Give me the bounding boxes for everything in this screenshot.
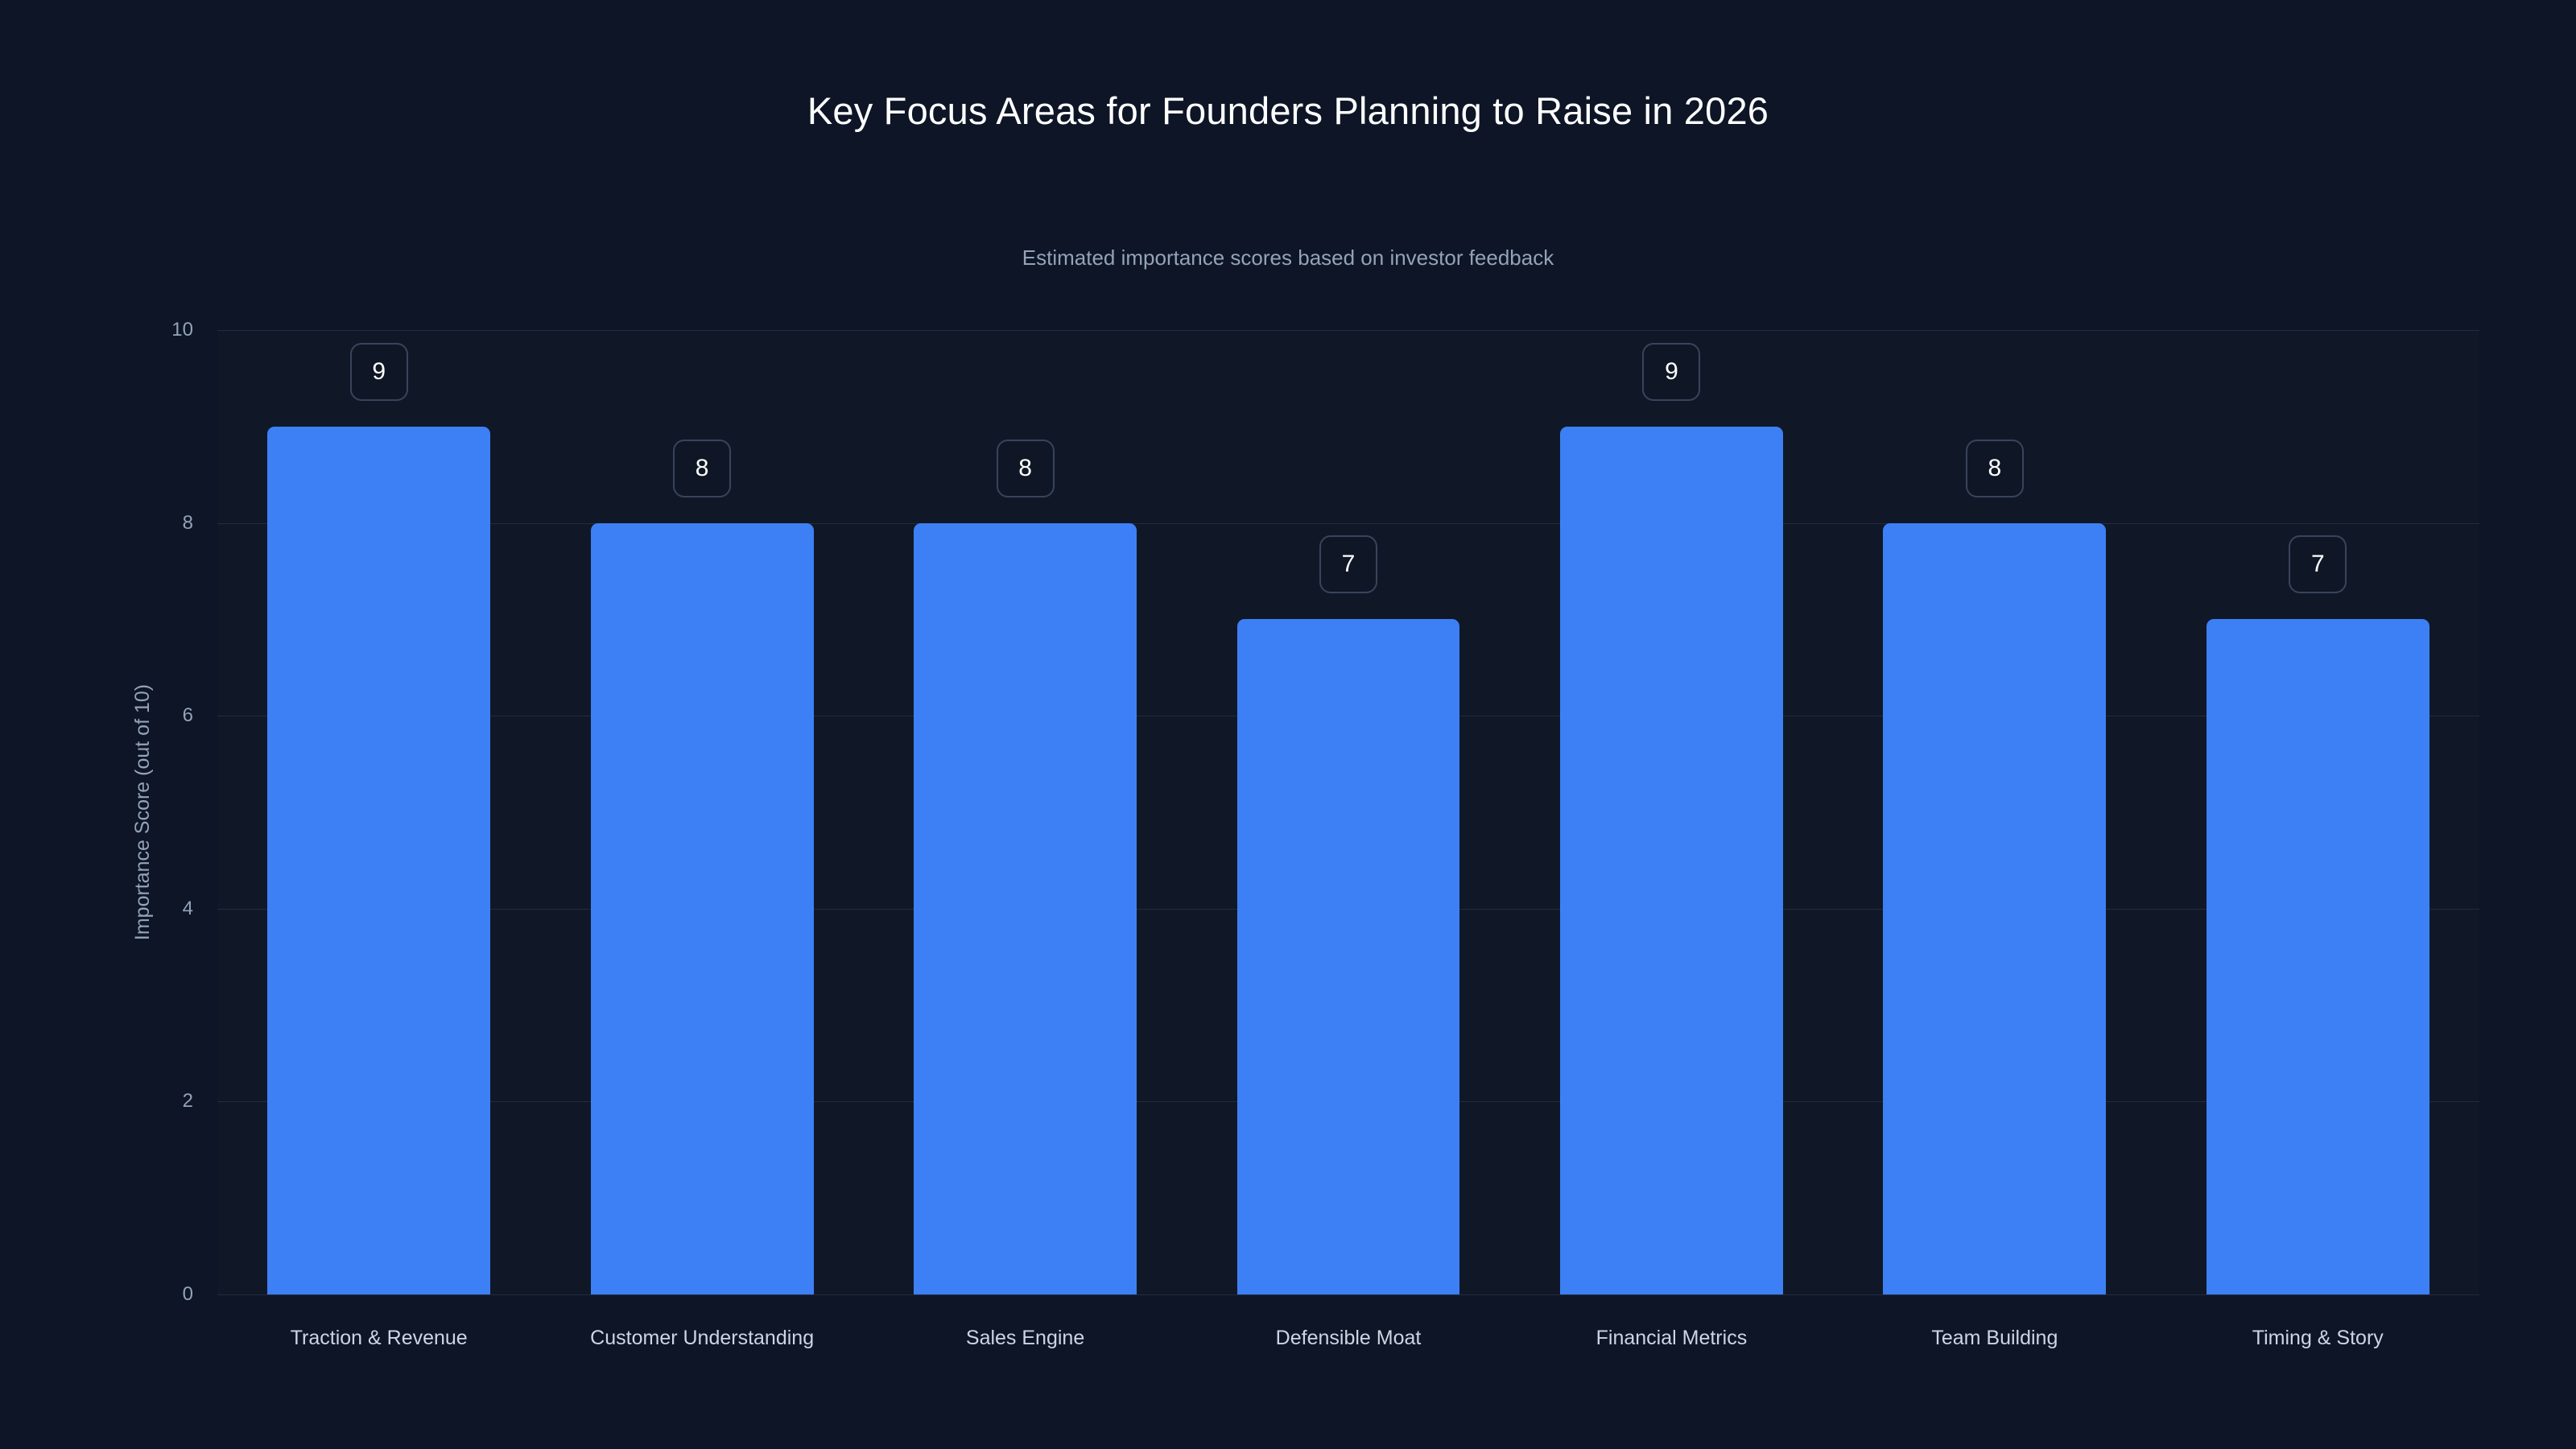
x-axis-tick-label: Defensible Moat [1276, 1327, 1422, 1350]
value-label-badge: 8 [997, 440, 1055, 497]
bar[interactable] [1883, 523, 2106, 1294]
x-axis-tick-label: Financial Metrics [1596, 1327, 1748, 1350]
chart-subtitle: Estimated importance scores based on inv… [0, 246, 2576, 270]
bar[interactable] [591, 523, 814, 1294]
value-label-badge: 9 [1642, 343, 1700, 401]
value-label-badge: 8 [1966, 440, 2024, 497]
x-axis-tick-label: Customer Understanding [590, 1327, 814, 1350]
bar-chart: Key Focus Areas for Founders Planning to… [0, 0, 2576, 1449]
bar[interactable] [1560, 427, 1783, 1294]
gridline [217, 1294, 2479, 1295]
x-axis-tick-label: Timing & Story [2252, 1327, 2384, 1350]
value-label-badge: 7 [2289, 535, 2347, 593]
bar[interactable] [2207, 619, 2429, 1294]
value-label-badge: 9 [350, 343, 408, 401]
value-label-badge: 7 [1319, 535, 1377, 593]
bar[interactable] [267, 427, 490, 1294]
x-axis-tick-label: Sales Engine [966, 1327, 1084, 1350]
y-axis-tick-label: 4 [121, 898, 193, 920]
bar[interactable] [1237, 619, 1460, 1294]
y-axis-title: Importance Score (out of 10) [131, 330, 155, 1294]
y-axis-tick-label: 6 [121, 704, 193, 727]
y-axis-tick-label: 2 [121, 1090, 193, 1113]
bar[interactable] [914, 523, 1137, 1294]
x-axis-tick-label: Traction & Revenue [291, 1327, 468, 1350]
plot-area [217, 330, 2479, 1294]
gridline [217, 523, 2479, 524]
y-axis-tick-label: 8 [121, 512, 193, 535]
chart-title: Key Focus Areas for Founders Planning to… [0, 89, 2576, 133]
value-label-badge: 8 [673, 440, 731, 497]
gridline [217, 330, 2479, 331]
x-axis-tick-label: Team Building [1931, 1327, 2058, 1350]
y-axis-tick-label: 0 [121, 1283, 193, 1306]
y-axis-tick-label: 10 [121, 319, 193, 341]
